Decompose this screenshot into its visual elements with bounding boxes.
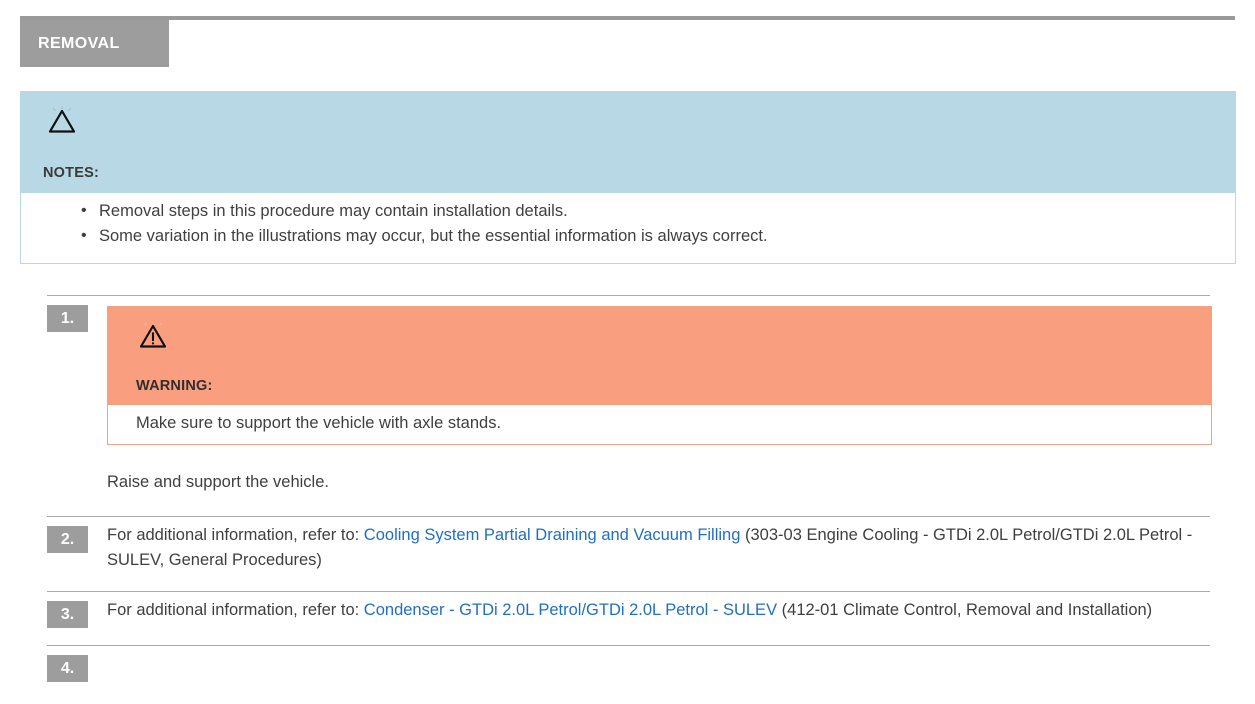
warning-text: Make sure to support the vehicle with ax… — [108, 405, 1211, 444]
step-2-prefix: For additional information, refer to: — [107, 526, 364, 544]
reference-link-cooling-system[interactable]: Cooling System Partial Draining and Vacu… — [364, 526, 741, 544]
tab-removal[interactable]: REMOVAL — [20, 20, 169, 67]
step-number-badge: 2. — [47, 526, 88, 553]
step-divider — [47, 645, 1210, 646]
list-item: Some variation in the illustrations may … — [99, 224, 1235, 249]
notes-list: Removal steps in this procedure may cont… — [21, 199, 1235, 249]
notes-callout: NOTES: Removal steps in this procedure m… — [20, 91, 1236, 264]
list-item: Removal steps in this procedure may cont… — [99, 199, 1235, 224]
step-divider — [47, 591, 1210, 592]
triangle-outline-icon — [45, 106, 1235, 141]
notes-title: NOTES: — [43, 165, 1235, 181]
step-3-suffix: (412-01 Climate Control, Removal and Ins… — [777, 601, 1152, 619]
step-number-badge: 3. — [47, 601, 88, 628]
step-number-badge: 1. — [47, 305, 88, 332]
step-3-text: For additional information, refer to: Co… — [107, 598, 1210, 623]
steps-list: 1. — [0, 295, 1255, 682]
tab-strip-divider — [20, 16, 1235, 20]
step-number-badge: 4. — [47, 655, 88, 682]
notes-header: NOTES: — [21, 92, 1235, 193]
step-divider — [47, 516, 1210, 517]
warning-title: WARNING: — [136, 378, 1211, 394]
step-1-text: Raise and support the vehicle. — [107, 473, 1212, 492]
step-3-prefix: For additional information, refer to: — [107, 601, 364, 619]
warning-triangle-icon — [136, 321, 1211, 356]
step-1: 1. — [0, 295, 1255, 516]
tab-removal-label: REMOVAL — [38, 35, 120, 53]
step-divider — [47, 295, 1210, 296]
step-2: 2. For additional information, refer to:… — [0, 516, 1255, 591]
warning-header: WARNING: — [108, 307, 1211, 405]
warning-callout: WARNING: Make sure to support the vehicl… — [107, 306, 1212, 445]
procedure-page: REMOVAL NOTES: Removal steps in this pro… — [0, 0, 1255, 704]
step-3: 3. For additional information, refer to:… — [0, 591, 1255, 645]
step-4: 4. — [0, 645, 1255, 682]
notes-body: Removal steps in this procedure may cont… — [21, 193, 1235, 263]
reference-link-condenser[interactable]: Condenser - GTDi 2.0L Petrol/GTDi 2.0L P… — [364, 601, 777, 619]
step-2-text: For additional information, refer to: Co… — [107, 523, 1210, 573]
